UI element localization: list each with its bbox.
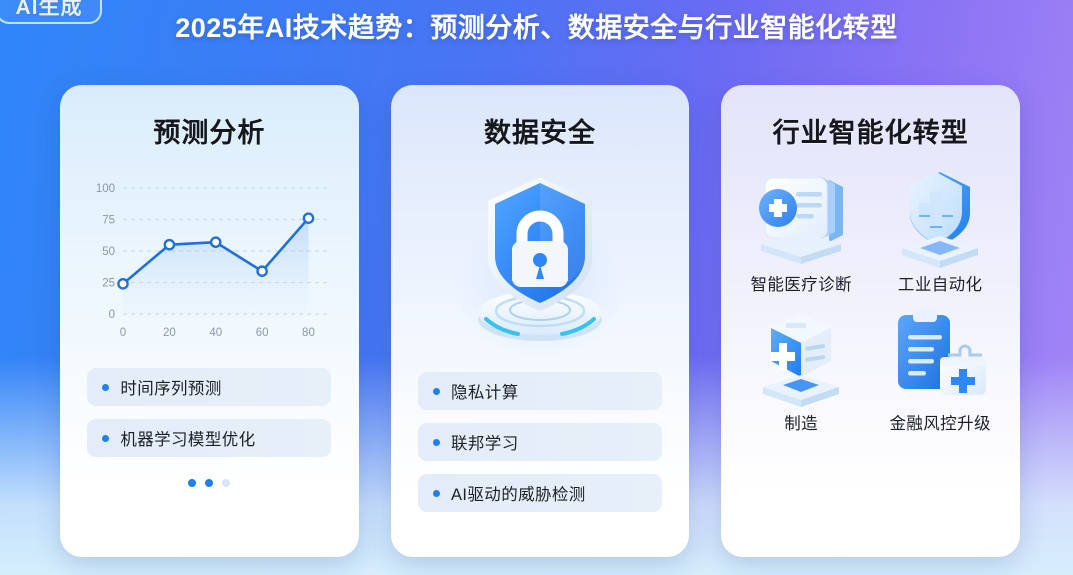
chart-data-point	[211, 238, 220, 247]
bullet-dot-icon	[433, 388, 440, 395]
list-item-label: 时间序列预测	[120, 375, 221, 399]
card-industry-transformation[interactable]: 行业智能化转型	[721, 85, 1020, 557]
list-item[interactable]: 隐私计算	[418, 372, 662, 410]
list-item-label: 联邦学习	[451, 430, 519, 454]
bullet-dot-icon	[102, 435, 109, 442]
industry-tiles: 智能医疗诊断	[735, 164, 1007, 434]
tile-label: 智能医疗诊断	[750, 271, 851, 295]
pagination-dot-active[interactable]	[188, 479, 196, 487]
list-item-label: 机器学习模型优化	[120, 426, 255, 450]
medical-record-icon	[741, 164, 861, 269]
tile-label: 工业自动化	[898, 271, 983, 295]
list-item[interactable]: 时间序列预测	[87, 368, 331, 406]
line-chart: 0255075100 020406080	[83, 174, 335, 354]
pagination-dot-active[interactable]	[205, 479, 213, 487]
list-item-label: 隐私计算	[451, 379, 519, 403]
bullet-dot-icon	[433, 439, 440, 446]
card-data-security[interactable]: 数据安全	[391, 85, 690, 557]
svg-text:80: 80	[302, 327, 315, 339]
feature-list: 隐私计算 联邦学习 AI驱动的威胁检测	[418, 372, 662, 512]
chart-area-fill	[123, 218, 309, 314]
list-item-label: AI驱动的威胁检测	[451, 481, 586, 505]
card-title: 行业智能化转型	[773, 111, 969, 150]
shield-lock-icon	[425, 156, 655, 366]
bullet-dot-icon	[433, 490, 440, 497]
tile-smart-medical-diagnosis[interactable]: 智能医疗诊断	[735, 164, 868, 295]
line-chart-svg: 0255075100 020406080	[83, 174, 335, 354]
tile-financial-risk-control[interactable]: 金融风控升级	[874, 303, 1007, 434]
chart-data-point	[304, 214, 313, 223]
tile-label: 制造	[784, 410, 818, 434]
svg-text:60: 60	[256, 327, 269, 339]
page-title: 2025年AI技术趋势：预测分析、数据安全与行业智能化转型	[0, 6, 1073, 45]
carousel-pagination[interactable]	[188, 479, 230, 487]
chart-y-tick-labels: 0255075100	[96, 183, 115, 321]
chart-data-point	[165, 240, 174, 249]
list-item[interactable]: AI驱动的威胁检测	[418, 474, 662, 512]
pagination-dot-inactive[interactable]	[222, 479, 230, 487]
bullet-dot-icon	[102, 384, 109, 391]
card-title: 预测分析	[153, 111, 265, 150]
chart-data-point	[258, 267, 267, 276]
feature-list: 时间序列预测 机器学习模型优化	[87, 368, 331, 457]
cube-cross-icon	[741, 303, 861, 408]
cards-row: 预测分析 0255075100 020406080	[60, 85, 1020, 557]
svg-text:75: 75	[103, 215, 116, 227]
card-predictive-analytics[interactable]: 预测分析 0255075100 020406080	[60, 85, 359, 557]
tile-manufacturing[interactable]: 制造	[735, 303, 868, 434]
svg-text:50: 50	[103, 246, 116, 258]
svg-text:25: 25	[103, 278, 116, 290]
tile-label: 金融风控升级	[889, 410, 990, 434]
svg-text:20: 20	[163, 327, 176, 339]
list-item[interactable]: 机器学习模型优化	[87, 419, 331, 457]
card-title: 数据安全	[484, 111, 596, 150]
tile-industrial-automation[interactable]: 工业自动化	[874, 164, 1007, 295]
shield-cross-icon	[880, 164, 1000, 269]
svg-text:40: 40	[210, 327, 223, 339]
svg-text:0: 0	[120, 327, 126, 339]
svg-text:100: 100	[96, 183, 115, 195]
slide-canvas: AI生成 2025年AI技术趋势：预测分析、数据安全与行业智能化转型 预测分析 …	[0, 0, 1073, 575]
list-item[interactable]: 联邦学习	[418, 423, 662, 461]
shield-lock-illustration	[440, 161, 640, 361]
clipboard-firstaid-icon	[880, 303, 1000, 408]
svg-text:0: 0	[109, 309, 115, 321]
chart-data-point	[119, 279, 128, 288]
chart-x-tick-labels: 020406080	[120, 327, 315, 339]
